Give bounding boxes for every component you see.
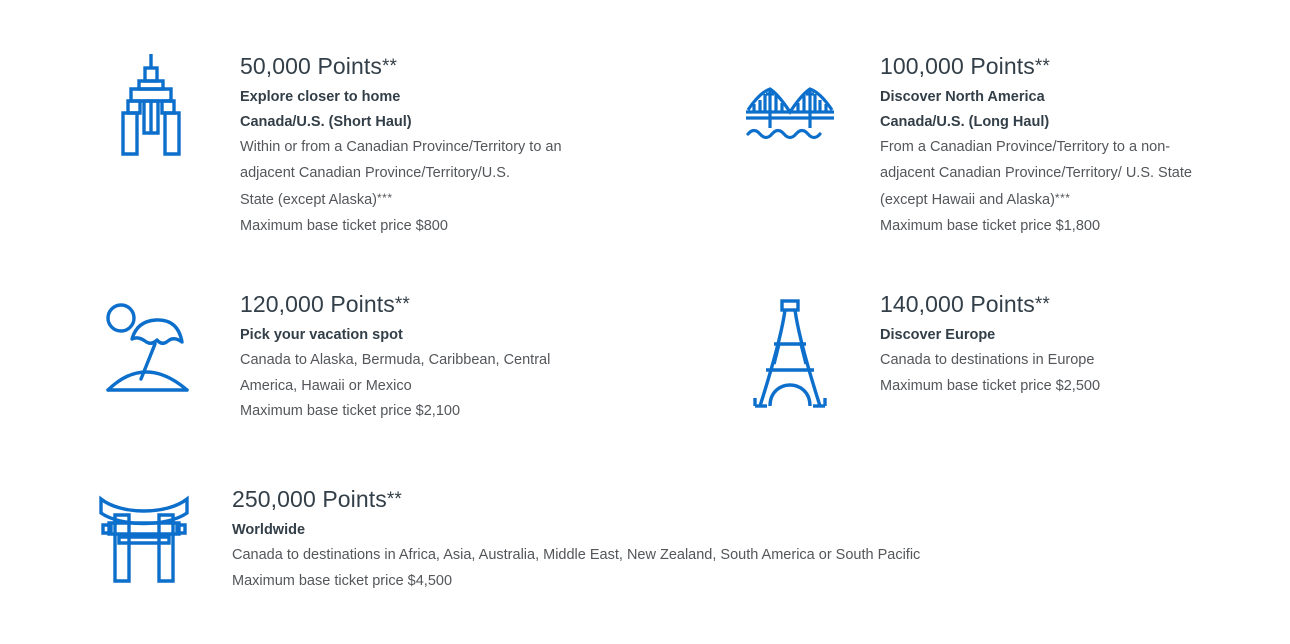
tier-subheadline: Canada/U.S. (Long Haul): [880, 110, 1270, 135]
reward-tiers-grid: 50,000 Points** Explore closer to home C…: [0, 0, 1290, 644]
points-amount: 140,000 Points**: [880, 290, 1270, 319]
torii-gate-icon: [55, 485, 232, 585]
reward-tier-text: 100,000 Points** Discover North America …: [880, 52, 1270, 239]
points-footnote: **: [395, 294, 410, 315]
description-footnote: ***: [377, 191, 393, 205]
points-amount: 250,000 Points**: [232, 485, 1155, 514]
tier-description-line: (except Hawaii and Alaska)***: [880, 186, 1270, 214]
reward-tier-text: 120,000 Points** Pick your vacation spot…: [240, 290, 662, 425]
points-amount: 120,000 Points**: [240, 290, 662, 319]
points-value: 140,000 Points: [880, 291, 1035, 317]
tier-headline: Discover North America: [880, 85, 1270, 110]
points-value: 120,000 Points: [240, 291, 395, 317]
points-amount: 50,000 Points**: [240, 52, 662, 81]
tier-subheadline: Canada/U.S. (Short Haul): [240, 110, 662, 135]
reward-tier-card: 50,000 Points** Explore closer to home C…: [62, 52, 662, 239]
points-footnote: **: [387, 489, 402, 510]
tier-description-line: Canada to Alaska, Bermuda, Caribbean, Ce…: [240, 348, 662, 374]
tier-headline: Pick your vacation spot: [240, 323, 662, 348]
suspension-bridge-icon: [700, 52, 880, 144]
tier-description-line: Canada to destinations in Africa, Asia, …: [232, 543, 1155, 569]
tier-description-line: State (except Alaska)***: [240, 186, 662, 214]
points-footnote: **: [1035, 294, 1050, 315]
tier-description-line: adjacent Canadian Province/Territory/U.S…: [240, 161, 662, 187]
max-base-ticket-price: Maximum base ticket price $4,500: [232, 569, 1155, 595]
tier-description-line: Canada to destinations in Europe: [880, 348, 1270, 374]
tier-headline: Worldwide: [232, 518, 1155, 543]
max-base-ticket-price: Maximum base ticket price $2,100: [240, 399, 662, 425]
tier-description-line: America, Hawaii or Mexico: [240, 374, 662, 400]
reward-tier-text: 140,000 Points** Discover Europe Canada …: [880, 290, 1270, 399]
max-base-ticket-price: Maximum base ticket price $800: [240, 214, 662, 240]
tier-description-text: State (except Alaska): [240, 192, 377, 208]
reward-tier-card: 100,000 Points** Discover North America …: [700, 52, 1270, 239]
beach-umbrella-icon: [62, 290, 240, 402]
reward-tier-card: 140,000 Points** Discover Europe Canada …: [700, 290, 1270, 410]
reward-tier-text: 50,000 Points** Explore closer to home C…: [240, 52, 662, 239]
points-value: 250,000 Points: [232, 486, 387, 512]
tier-description-line: adjacent Canadian Province/Territory/ U.…: [880, 161, 1270, 187]
reward-tier-text: 250,000 Points** Worldwide Canada to des…: [232, 485, 1155, 594]
points-amount: 100,000 Points**: [880, 52, 1270, 81]
points-footnote: **: [1035, 56, 1050, 77]
reward-tier-card: 250,000 Points** Worldwide Canada to des…: [55, 485, 1155, 594]
tier-description-text: (except Hawaii and Alaska): [880, 192, 1055, 208]
tier-description-line: Within or from a Canadian Province/Terri…: [240, 135, 662, 161]
max-base-ticket-price: Maximum base ticket price $2,500: [880, 374, 1270, 400]
max-base-ticket-price: Maximum base ticket price $1,800: [880, 214, 1270, 240]
tier-headline: Discover Europe: [880, 323, 1270, 348]
points-value: 100,000 Points: [880, 53, 1035, 79]
description-footnote: ***: [1055, 191, 1071, 205]
reward-tier-card: 120,000 Points** Pick your vacation spot…: [62, 290, 662, 425]
tier-headline: Explore closer to home: [240, 85, 662, 110]
points-value: 50,000 Points: [240, 53, 382, 79]
points-footnote: **: [382, 56, 397, 77]
eiffel-tower-icon: [700, 290, 880, 410]
skyscraper-icon: [62, 52, 240, 156]
tier-description-line: From a Canadian Province/Territory to a …: [880, 135, 1270, 161]
